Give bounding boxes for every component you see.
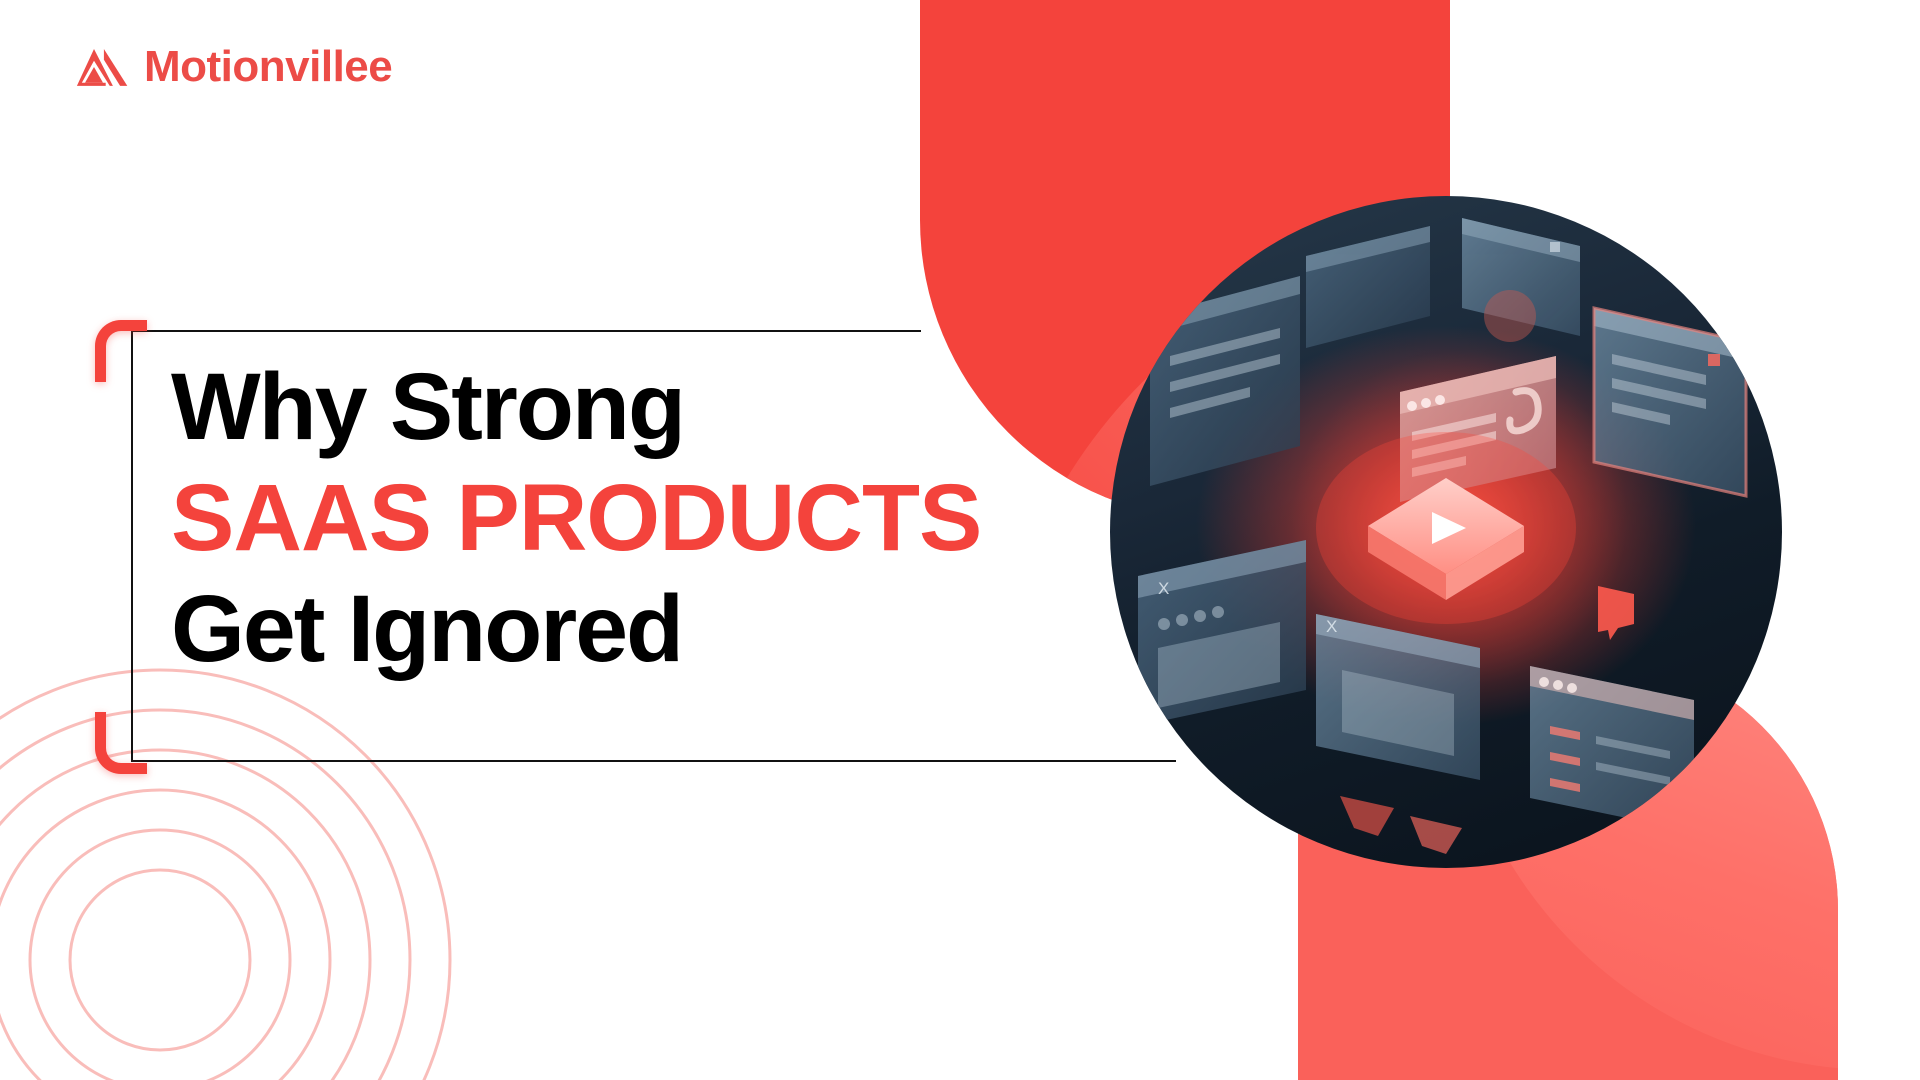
hero-circular-image: X X [1110,196,1782,868]
svg-text:X: X [1326,617,1337,636]
brand-name: Motionvillee [144,45,392,89]
svg-text:X: X [1158,579,1169,598]
headline-frame: Why Strong SAAS PRODUCTS Get Ignored [95,330,1175,762]
corner-bracket-top-left-icon [95,320,147,382]
corner-bracket-bottom-left-icon [95,712,147,774]
headline-line-2: SAAS PRODUCTS [171,463,1151,574]
headline-line-3: Get Ignored [171,574,1151,685]
frame-border-top [131,330,921,332]
brand-logo[interactable]: Motionvillee [76,44,392,90]
page-title: Why Strong SAAS PRODUCTS Get Ignored [171,352,1151,685]
frame-border-left [131,330,133,762]
frame-border-bottom [131,760,1176,762]
headline-line-1: Why Strong [171,352,1151,463]
double-triangle-mountain-icon [76,44,130,90]
slide-root: Motionvillee Why Strong SAAS PRODUCTS Ge… [0,0,1920,1080]
